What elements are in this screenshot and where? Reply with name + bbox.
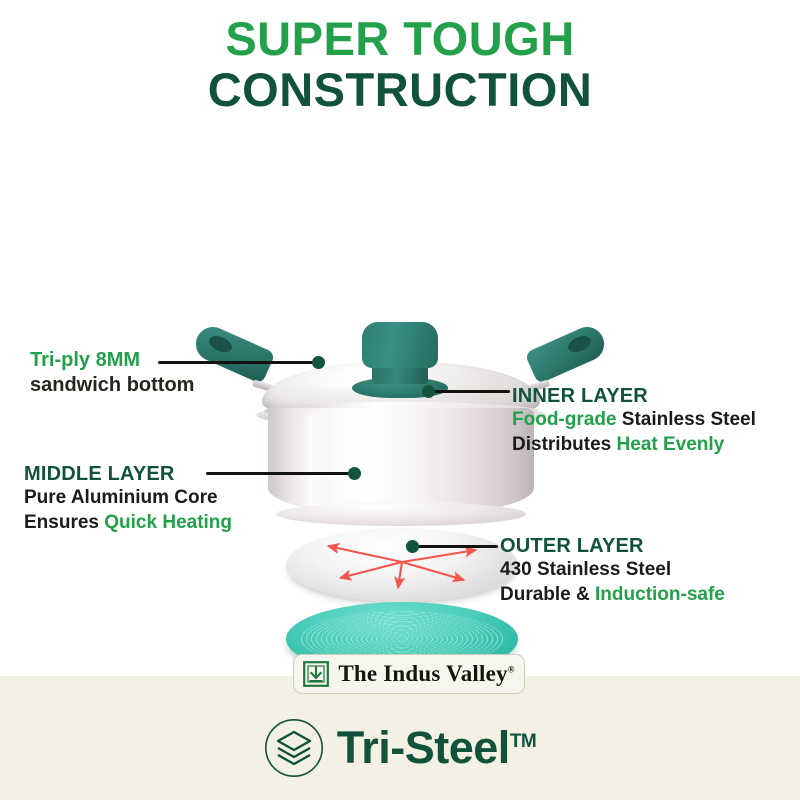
brand-name: The Indus Valley®	[338, 661, 514, 687]
callout-inner-line1-green: Food-grade	[512, 409, 622, 430]
heat-distribution-arrows	[286, 528, 518, 602]
callout-outer-line2: Durable & Induction-safe	[500, 583, 790, 607]
pot-base	[276, 502, 526, 526]
tri-steel-wordmark: Tri-SteelTM	[0, 718, 800, 778]
footer-band: The Indus Valley® Tri-SteelTM	[0, 676, 800, 800]
callout-outer-layer: OUTER LAYER 430 Stainless Steel Durable …	[500, 534, 790, 607]
handle-hole-right-icon	[566, 333, 594, 356]
callout-outer-line1: 430 Stainless Steel	[500, 558, 790, 582]
tri-steel-layers-icon	[264, 718, 324, 778]
callout-inner-line1-dark: Stainless Steel	[622, 409, 756, 430]
pot-handle-right	[524, 322, 609, 385]
callout-inner-heading: INNER LAYER	[512, 384, 798, 408]
tri-steel-label: Tri-Steel	[337, 722, 510, 773]
title-line-2: CONSTRUCTION	[0, 64, 800, 116]
callout-triply-line2: sandwich bottom	[30, 373, 280, 398]
callout-middle-line2-dark: Ensures	[24, 512, 104, 533]
callout-outer-line2-dark: Durable &	[500, 584, 595, 605]
leader-line-outer	[418, 545, 498, 548]
callout-inner-line2-dark: Distributes	[512, 434, 617, 455]
callout-middle-line2: Ensures Quick Heating	[24, 511, 294, 535]
leader-dot-inner	[422, 385, 435, 398]
callout-middle-line1: Pure Aluminium Core	[24, 486, 294, 510]
callout-inner-line1: Food-grade Stainless Steel	[512, 408, 798, 432]
leader-line-triply	[158, 361, 318, 364]
leader-dot-triply	[312, 356, 325, 369]
indus-valley-logo-icon	[303, 661, 329, 687]
lid-knob	[362, 322, 438, 368]
callout-outer-heading: OUTER LAYER	[500, 534, 790, 558]
callout-middle-line2-green: Quick Heating	[104, 512, 232, 533]
callout-inner-layer: INNER LAYER Food-grade Stainless Steel D…	[512, 384, 798, 457]
callout-inner-line2: Distributes Heat Evenly	[512, 433, 798, 457]
callout-inner-line2-green: Heat Evenly	[617, 434, 725, 455]
page-title: SUPER TOUGH CONSTRUCTION	[0, 14, 800, 116]
tri-steel-text: Tri-SteelTM	[337, 722, 537, 774]
leader-line-middle	[206, 472, 354, 475]
leader-dot-outer	[406, 540, 419, 553]
callout-triply: Tri-ply 8MM sandwich bottom	[30, 348, 280, 398]
leader-dot-middle	[348, 467, 361, 480]
brand-name-text: The Indus Valley	[338, 661, 507, 686]
pot-highlight	[300, 414, 326, 510]
registered-mark: ®	[508, 664, 515, 674]
brand-badge: The Indus Valley®	[293, 654, 525, 694]
title-line-1: SUPER TOUGH	[0, 14, 800, 64]
callout-outer-line2-green: Induction-safe	[595, 584, 725, 605]
leader-line-inner	[432, 390, 510, 393]
trademark-mark: TM	[510, 731, 536, 752]
